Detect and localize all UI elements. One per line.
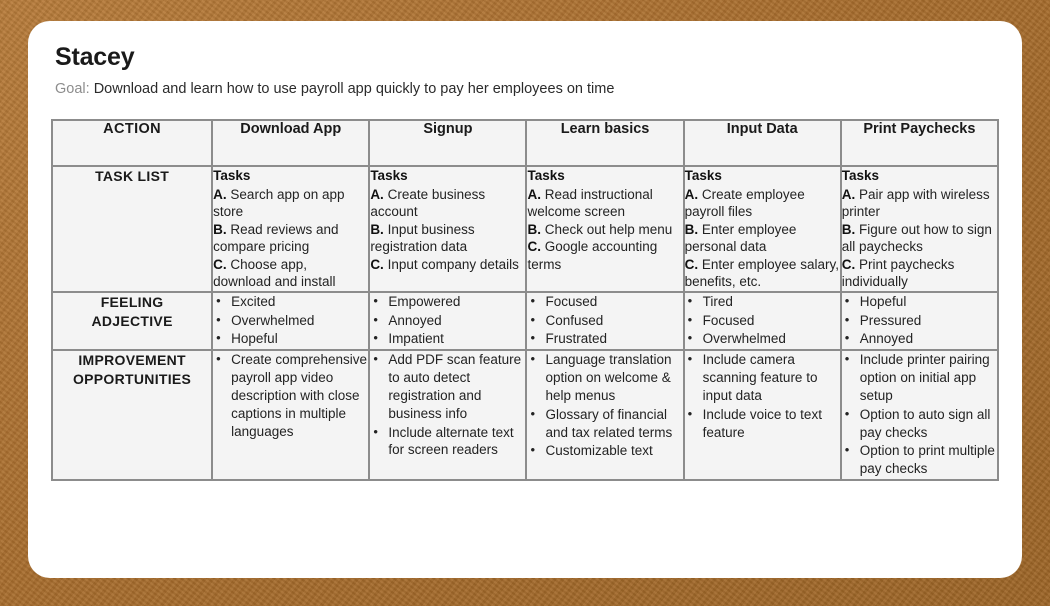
tasks-heading: Tasks bbox=[842, 167, 997, 185]
row-label-line1: FEELING bbox=[101, 294, 164, 310]
list-item: Empowered bbox=[370, 293, 525, 311]
list-item: Tired bbox=[685, 293, 840, 311]
list-item: Focused bbox=[527, 293, 682, 311]
row-label-line2: OPPORTUNITIES bbox=[73, 371, 191, 387]
improvement-list: Language translation option on welcome &… bbox=[527, 351, 682, 460]
journey-map-table: ACTION Download App Signup Learn basics … bbox=[51, 119, 999, 481]
cell-tasks-input-data: Tasks A. Create employee payroll files B… bbox=[684, 166, 841, 292]
list-item: Include printer pairing option on initia… bbox=[842, 351, 997, 404]
list-item: Hopeful bbox=[213, 330, 368, 348]
row-label-line1: IMPROVEMENT bbox=[78, 352, 186, 368]
goal-statement: Goal: Download and learn how to use payr… bbox=[55, 81, 614, 98]
improvement-list: Add PDF scan feature to auto detect regi… bbox=[370, 351, 525, 459]
feeling-list: Tired Focused Overwhelmed bbox=[685, 293, 840, 348]
task-item: A. Create business account bbox=[370, 186, 525, 221]
list-item: Customizable text bbox=[527, 442, 682, 460]
table-row-feeling-adjective: FEELING ADJECTIVE Excited Overwhelmed Ho… bbox=[52, 292, 998, 350]
cell-tasks-download-app: Tasks A. Search app on app store B. Read… bbox=[212, 166, 369, 292]
task-item: C. Choose app, download and install bbox=[213, 256, 368, 291]
task-item: C. Input company details bbox=[370, 256, 525, 274]
task-item: C. Google accounting terms bbox=[527, 238, 682, 273]
tasks-heading: Tasks bbox=[370, 167, 525, 185]
list-item: Include camera scanning feature to input… bbox=[685, 351, 840, 404]
improvement-list: Create comprehensive payroll app video d… bbox=[213, 351, 368, 440]
header-action: ACTION bbox=[52, 120, 212, 166]
list-item: Focused bbox=[685, 312, 840, 330]
list-item: Frustrated bbox=[527, 330, 682, 348]
table-header-row: ACTION Download App Signup Learn basics … bbox=[52, 120, 998, 166]
task-item: B. Input business registration data bbox=[370, 221, 525, 256]
task-item: A. Create employee payroll files bbox=[685, 186, 840, 221]
header-download-app: Download App bbox=[212, 120, 369, 166]
task-item: B. Check out help menu bbox=[527, 221, 682, 239]
table-row-task-list: TASK LIST Tasks A. Search app on app sto… bbox=[52, 166, 998, 292]
cell-feelings-learn-basics: Focused Confused Frustrated bbox=[526, 292, 683, 350]
list-item: Include alternate text for screen reader… bbox=[370, 424, 525, 460]
tasks-heading: Tasks bbox=[527, 167, 682, 185]
goal-label: Goal: bbox=[55, 81, 90, 97]
cell-improvements-download-app: Create comprehensive payroll app video d… bbox=[212, 350, 369, 480]
row-label-task-list: TASK LIST bbox=[52, 166, 212, 292]
header-signup: Signup bbox=[369, 120, 526, 166]
cell-tasks-signup: Tasks A. Create business account B. Inpu… bbox=[369, 166, 526, 292]
tasks-heading: Tasks bbox=[213, 167, 368, 185]
table-row-improvement-opportunities: IMPROVEMENT OPPORTUNITIES Create compreh… bbox=[52, 350, 998, 480]
row-label-feeling-adjective: FEELING ADJECTIVE bbox=[52, 292, 212, 350]
row-label-line2: ADJECTIVE bbox=[91, 313, 172, 329]
goal-text: Download and learn how to use payroll ap… bbox=[94, 81, 615, 97]
task-item: A. Read instructional welcome screen bbox=[527, 186, 682, 221]
list-item: Overwhelmed bbox=[213, 312, 368, 330]
task-item: B. Read reviews and compare pricing bbox=[213, 221, 368, 256]
list-item: Annoyed bbox=[842, 330, 997, 348]
cell-improvements-learn-basics: Language translation option on welcome &… bbox=[526, 350, 683, 480]
task-item: C. Print paychecks individually bbox=[842, 256, 997, 291]
header-learn-basics: Learn basics bbox=[526, 120, 683, 166]
cell-feelings-download-app: Excited Overwhelmed Hopeful bbox=[212, 292, 369, 350]
list-item: Add PDF scan feature to auto detect regi… bbox=[370, 351, 525, 422]
cell-tasks-learn-basics: Tasks A. Read instructional welcome scre… bbox=[526, 166, 683, 292]
feeling-list: Focused Confused Frustrated bbox=[527, 293, 682, 348]
header-input-data: Input Data bbox=[684, 120, 841, 166]
task-item: B. Enter employee personal data bbox=[685, 221, 840, 256]
tasks-heading: Tasks bbox=[685, 167, 840, 185]
list-item: Overwhelmed bbox=[685, 330, 840, 348]
cell-feelings-input-data: Tired Focused Overwhelmed bbox=[684, 292, 841, 350]
list-item: Excited bbox=[213, 293, 368, 311]
list-item: Include voice to text feature bbox=[685, 406, 840, 442]
cell-feelings-signup: Empowered Annoyed Impatient bbox=[369, 292, 526, 350]
feeling-list: Empowered Annoyed Impatient bbox=[370, 293, 525, 348]
cell-improvements-signup: Add PDF scan feature to auto detect regi… bbox=[369, 350, 526, 480]
list-item: Impatient bbox=[370, 330, 525, 348]
task-item: A. Pair app with wireless printer bbox=[842, 186, 997, 221]
improvement-list: Include printer pairing option on initia… bbox=[842, 351, 997, 478]
list-item: Option to auto sign all pay checks bbox=[842, 406, 997, 442]
cell-improvements-print-paychecks: Include printer pairing option on initia… bbox=[841, 350, 998, 480]
card-header: Stacey Goal: Download and learn how to u… bbox=[55, 44, 614, 98]
feeling-list: Hopeful Pressured Annoyed bbox=[842, 293, 997, 348]
cell-feelings-print-paychecks: Hopeful Pressured Annoyed bbox=[841, 292, 998, 350]
task-item: B. Figure out how to sign all paychecks bbox=[842, 221, 997, 256]
row-label-improvement-opportunities: IMPROVEMENT OPPORTUNITIES bbox=[52, 350, 212, 480]
cell-tasks-print-paychecks: Tasks A. Pair app with wireless printer … bbox=[841, 166, 998, 292]
page-title: Stacey bbox=[55, 44, 614, 72]
list-item: Pressured bbox=[842, 312, 997, 330]
list-item: Annoyed bbox=[370, 312, 525, 330]
feeling-list: Excited Overwhelmed Hopeful bbox=[213, 293, 368, 348]
header-print-paychecks: Print Paychecks bbox=[841, 120, 998, 166]
list-item: Option to print multiple pay checks bbox=[842, 442, 997, 478]
cell-improvements-input-data: Include camera scanning feature to input… bbox=[684, 350, 841, 480]
list-item: Create comprehensive payroll app video d… bbox=[213, 351, 368, 440]
list-item: Hopeful bbox=[842, 293, 997, 311]
task-item: C. Enter employee salary, benefits, etc. bbox=[685, 256, 840, 291]
list-item: Language translation option on welcome &… bbox=[527, 351, 682, 404]
list-item: Confused bbox=[527, 312, 682, 330]
persona-card: Stacey Goal: Download and learn how to u… bbox=[28, 21, 1022, 578]
improvement-list: Include camera scanning feature to input… bbox=[685, 351, 840, 441]
task-item: A. Search app on app store bbox=[213, 186, 368, 221]
list-item: Glossary of financial and tax related te… bbox=[527, 406, 682, 442]
